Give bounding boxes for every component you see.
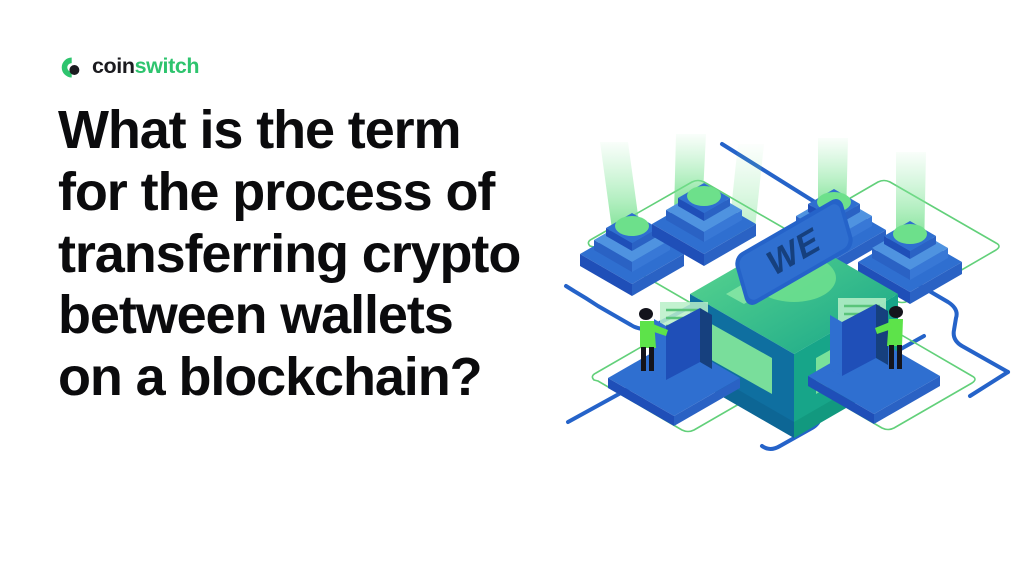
figure-leg-left-b bbox=[649, 347, 654, 371]
headline-line-1: What is the term bbox=[58, 100, 588, 162]
figure-head-right bbox=[889, 306, 903, 318]
brand-word-coin: coin bbox=[92, 56, 135, 78]
figure-leg-left-a bbox=[641, 347, 646, 371]
isometric-blockchain-network-illustration: WE bbox=[556, 126, 1024, 456]
figure-head-left bbox=[639, 308, 653, 320]
brand-word-switch: switch bbox=[135, 56, 200, 78]
illustration-svg: WE bbox=[556, 126, 1024, 456]
page-title: What is the term for the process of tran… bbox=[58, 100, 588, 409]
figure-leg-right-a bbox=[889, 345, 894, 369]
route-line-right-tail bbox=[970, 372, 1008, 396]
headline-line-3: transferring crypto bbox=[58, 224, 588, 286]
headline-line-5: on a blockchain? bbox=[58, 347, 588, 409]
headline-line-4: between wallets bbox=[58, 285, 588, 347]
slide-canvas: coinswitch What is the term for the proc… bbox=[0, 0, 1024, 576]
coinswitch-logo-icon bbox=[60, 56, 83, 79]
headline-line-2: for the process of bbox=[58, 162, 588, 224]
figure-leg-right-b bbox=[897, 345, 902, 369]
brand-logo[interactable]: coinswitch bbox=[60, 52, 199, 82]
brand-wordmark: coinswitch bbox=[92, 56, 199, 78]
